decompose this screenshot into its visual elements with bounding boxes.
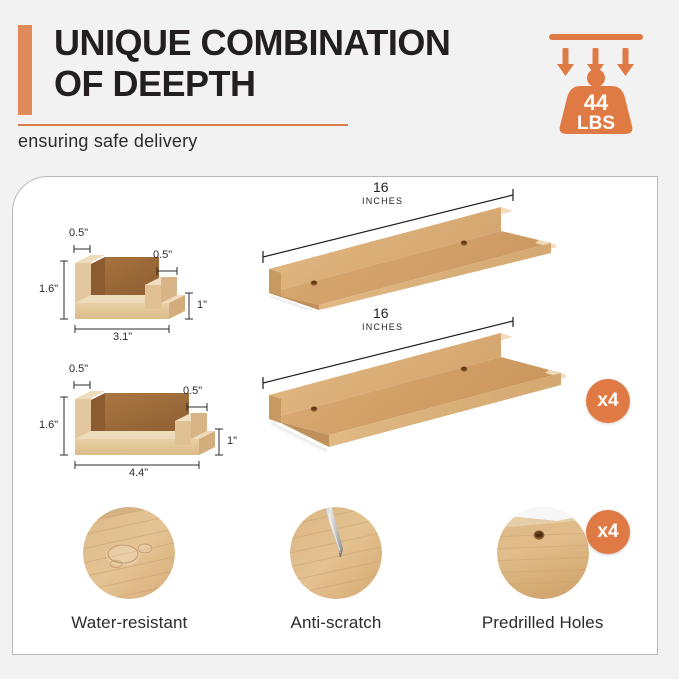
shelf-length-value: 16 — [373, 179, 389, 195]
weight-capacity-icon: 44 LBS — [540, 28, 652, 138]
feature-label: Water-resistant — [71, 613, 187, 633]
quantity-badge-small-shelf: x4 — [586, 379, 630, 423]
dim-lip-height: 1" — [227, 435, 237, 447]
cross-section-small: 0.5" 0.5" 1.6" 1" 3.1" — [37, 223, 247, 343]
feature-anti-scratch: Anti-scratch — [241, 507, 431, 633]
title-divider — [18, 124, 348, 126]
dim-lip-height: 1" — [197, 299, 207, 311]
dim-right-thickness: 0.5" — [153, 249, 172, 261]
feature-label: Predrilled Holes — [482, 613, 604, 633]
water-droplet-icon — [83, 507, 175, 599]
dim-left-thickness: 0.5" — [69, 363, 88, 375]
shelf-length-unit: INCHES — [362, 322, 403, 332]
cross-section-large: 0.5" 0.5" 1.6" 1" 4.4" — [37, 359, 255, 481]
title-line-1: UNIQUE COMBINATION — [54, 22, 524, 63]
page-title: UNIQUE COMBINATION OF DEEPTH — [54, 22, 524, 104]
shelf-length-unit: INCHES — [362, 196, 403, 206]
metal-pin-icon — [290, 507, 382, 599]
infographic-root: UNIQUE COMBINATION OF DEEPTH ensuring sa… — [0, 0, 679, 679]
drilled-hole-icon — [497, 507, 589, 599]
header: UNIQUE COMBINATION OF DEEPTH ensuring sa… — [0, 0, 679, 160]
title-line-2: OF DEEPTH — [54, 63, 524, 104]
dim-height: 1.6" — [39, 283, 58, 295]
feature-label: Anti-scratch — [291, 613, 382, 633]
dim-left-thickness: 0.5" — [69, 227, 88, 239]
feature-row: Water-resistant — [26, 507, 646, 647]
feature-water-resistant: Water-resistant — [34, 507, 224, 633]
product-detail-card: 0.5" 0.5" 1.6" 1" 3.1" — [12, 176, 658, 655]
weight-value-text: 44 — [584, 90, 609, 115]
shelf-image-large: 16 INCHES — [251, 317, 581, 462]
dim-depth: 4.4" — [129, 467, 148, 479]
dim-depth: 3.1" — [113, 331, 132, 343]
shelf-image-small: 16 INCHES — [251, 185, 581, 310]
dim-height: 1.6" — [39, 419, 58, 431]
accent-bar — [18, 25, 32, 115]
weight-unit-text: LBS — [577, 113, 615, 134]
dim-right-thickness: 0.5" — [183, 385, 202, 397]
subtitle: ensuring safe delivery — [18, 131, 198, 152]
shelf-length-value: 16 — [373, 305, 389, 321]
feature-predrilled-holes: Predrilled Holes — [448, 507, 638, 633]
